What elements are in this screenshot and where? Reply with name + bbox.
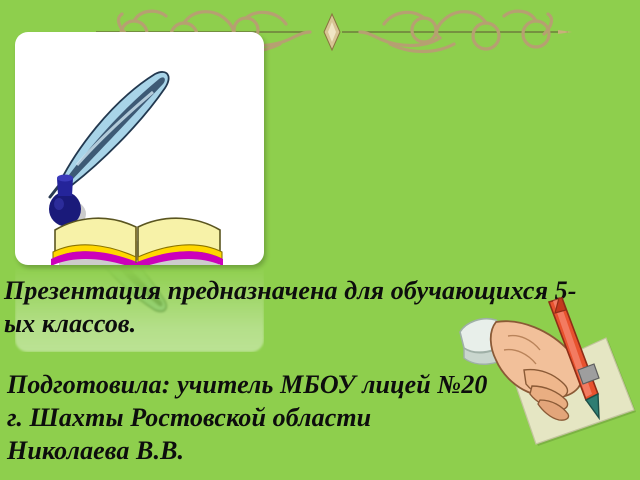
author-text-block: Подготовила: учитель МБОУ лицей №20 г. Ш…	[7, 368, 607, 467]
quill-inkwell-book-illustration	[15, 32, 264, 265]
presentation-slide: Презентация предназначена для обучающихс…	[0, 0, 640, 480]
author-line-2: г. Шахты Ростовской области	[7, 401, 607, 434]
author-line-1: Подготовила: учитель МБОУ лицей №20	[7, 368, 607, 401]
intro-line-2: ых классов.	[4, 307, 640, 340]
intro-text-block: Презентация предназначена для обучающихс…	[4, 274, 640, 340]
intro-line-1: Презентация предназначена для обучающихс…	[4, 274, 640, 307]
author-line-3: Николаева В.В.	[7, 434, 607, 467]
picture-card	[15, 32, 264, 265]
